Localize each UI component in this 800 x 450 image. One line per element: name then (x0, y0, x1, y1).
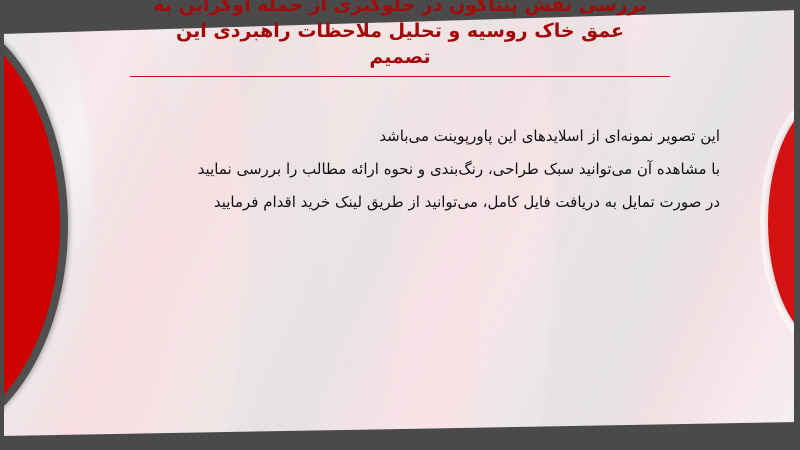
slide-background-panel (0, 0, 800, 450)
title-underline-rule (130, 76, 670, 77)
right-edge-border (794, 0, 800, 450)
left-edge-border (0, 0, 4, 450)
slide-body-text: این تصویر نمونه‌ای از اسلایدهای این پاور… (70, 120, 720, 219)
slide-body-line-1: این تصویر نمونه‌ای از اسلایدهای این پاور… (70, 120, 720, 153)
slide-body-line-3: در صورت تمایل به دریافت فایل کامل، می‌تو… (70, 186, 720, 219)
presentation-slide: بررسی نقش پنتاگون در جلوگیری از حمله اوک… (0, 0, 800, 450)
background-arc-texture (0, 0, 800, 450)
slide-body-line-2: با مشاهده آن می‌توانید سبک طراحی، رنگ‌بن… (70, 153, 720, 186)
